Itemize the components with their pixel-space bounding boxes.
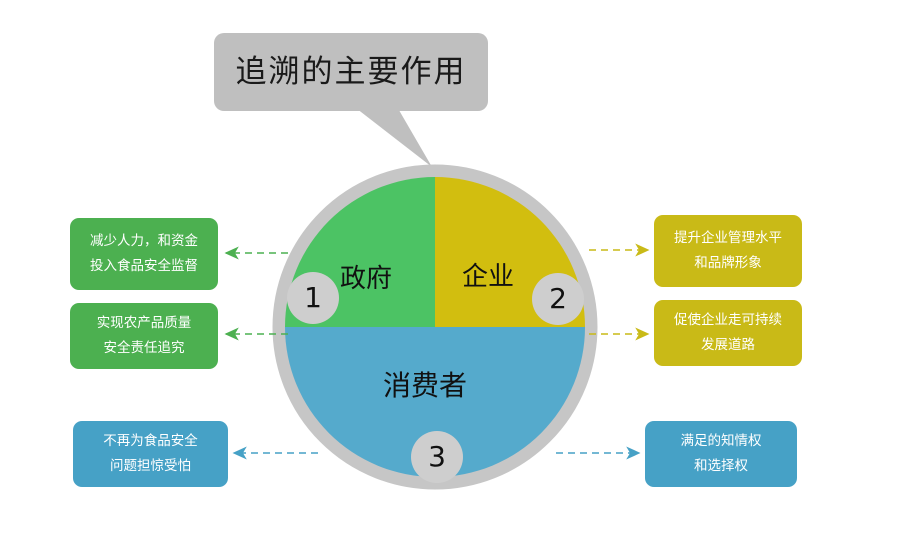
callout-bubble[interactable]: 追溯的主要作用 xyxy=(214,33,488,111)
note-line: 提升企业管理水平 xyxy=(674,226,782,251)
callout-tail xyxy=(352,105,432,167)
note-enterprise-1[interactable]: 提升企业管理水平 和品牌形象 xyxy=(654,215,802,287)
note-government-1[interactable]: 减少人力，和资金 投入食品安全监督 xyxy=(70,218,218,290)
note-line: 实现农产品质量 xyxy=(97,311,192,336)
note-consumer-1[interactable]: 不再为食品安全 问题担惊受怕 xyxy=(73,421,228,487)
note-line: 和品牌形象 xyxy=(694,251,762,276)
sector-label-government: 政府 xyxy=(340,266,392,292)
sector-label-consumer: 消费者 xyxy=(383,372,467,400)
note-line: 问题担惊受怕 xyxy=(110,454,191,479)
note-line: 不再为食品安全 xyxy=(103,429,198,454)
note-enterprise-2[interactable]: 促使企业走可持续 发展道路 xyxy=(654,300,802,366)
note-government-2[interactable]: 实现农产品质量 安全责任追究 xyxy=(70,303,218,369)
sector-label-enterprise: 企业 xyxy=(462,264,514,290)
note-line: 安全责任追究 xyxy=(104,336,185,361)
sector-badge-enterprise[interactable]: 2 xyxy=(532,273,584,325)
note-line: 促使企业走可持续 xyxy=(674,308,782,333)
note-line: 减少人力，和资金 xyxy=(90,229,198,254)
sector-badge-consumer[interactable]: 3 xyxy=(411,431,463,483)
diagram-canvas: 追溯的主要作用 政府 企业 消费者 1 2 3 减少人力，和资金 投入食品安全监… xyxy=(0,0,900,547)
note-consumer-2[interactable]: 满足的知情权 和选择权 xyxy=(645,421,797,487)
note-line: 投入食品安全监督 xyxy=(90,254,198,279)
sector-badge-government[interactable]: 1 xyxy=(287,272,339,324)
note-line: 满足的知情权 xyxy=(681,429,762,454)
note-line: 和选择权 xyxy=(694,454,748,479)
callout-title: 追溯的主要作用 xyxy=(236,57,467,88)
note-line: 发展道路 xyxy=(701,333,755,358)
